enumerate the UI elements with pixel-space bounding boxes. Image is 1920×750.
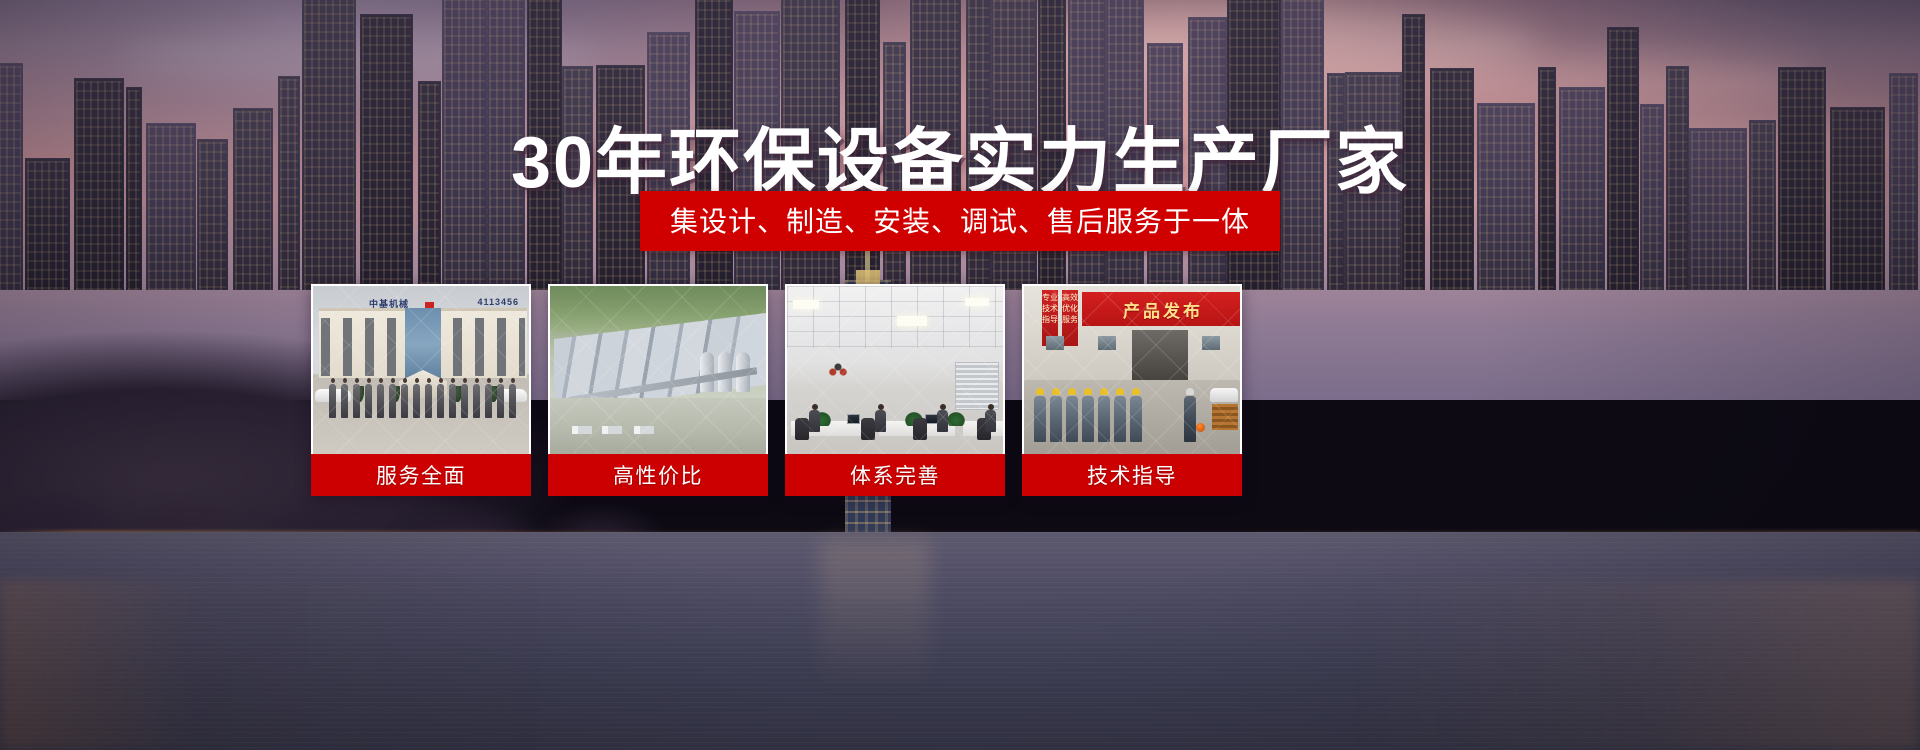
staff-member — [437, 384, 444, 418]
truck — [634, 426, 654, 434]
card-label: 服务全面 — [311, 454, 531, 496]
office-ceiling — [787, 286, 1003, 348]
staff-member — [485, 384, 492, 418]
staff-member — [365, 384, 372, 418]
staff-member — [473, 384, 480, 418]
wall-logo — [825, 358, 851, 378]
red-wall-banner: 产品发布 — [1082, 292, 1240, 326]
staff-lineup — [329, 378, 519, 418]
staff-member — [497, 384, 504, 418]
ceiling-light — [965, 298, 989, 306]
vertical-banner-right: 高效 优化服务 — [1062, 290, 1078, 346]
staff-member — [425, 384, 432, 418]
staff-member — [389, 384, 396, 418]
held-helmet — [1196, 423, 1205, 432]
flag-icon — [425, 302, 434, 308]
banner-subtitle-bar: 集设计、制造、安装、调试、售后服务于一体 — [640, 191, 1280, 251]
truck — [1210, 388, 1238, 402]
feature-card[interactable]: 专业 技术指导 高效 优化服务 产品发布 — [1022, 284, 1242, 496]
ceiling-light — [793, 300, 819, 309]
staff-member — [413, 384, 420, 418]
worker — [1034, 396, 1046, 442]
window-blinds — [955, 362, 999, 410]
truck — [572, 426, 592, 434]
worker — [1130, 396, 1142, 442]
storage-silo — [700, 352, 714, 392]
worker — [1050, 396, 1062, 442]
workshop-door — [1132, 330, 1188, 382]
office-chair — [861, 418, 875, 440]
workshop-window — [1046, 336, 1064, 350]
ceiling-light — [897, 316, 927, 326]
card-label: 高性价比 — [548, 454, 768, 496]
worker — [1066, 396, 1078, 442]
worker — [1098, 396, 1110, 442]
staff-member — [461, 384, 468, 418]
banner-content: 30年环保设备实力生产厂家 集设计、制造、安装、调试、售后服务于一体 中基机械 … — [0, 0, 1920, 750]
card-photo-factory-workers: 专业 技术指导 高效 优化服务 产品发布 — [1024, 286, 1240, 454]
feature-card[interactable]: 高性价比 — [548, 284, 768, 496]
card-photo-office-interior — [787, 286, 1003, 454]
staff-member — [341, 384, 348, 418]
red-wall-banner-text: 产品发布 — [1082, 292, 1240, 326]
office-worker — [875, 410, 886, 432]
hero-banner: 30年环保设备实力生产厂家 集设计、制造、安装、调试、售后服务于一体 中基机械 … — [0, 0, 1920, 750]
company-sign-text: 中基机械 — [369, 297, 409, 310]
office-worker — [809, 410, 820, 432]
staff-member — [329, 384, 336, 418]
feature-card[interactable]: 中基机械 4113456 服务全面 — [311, 284, 531, 496]
truck — [602, 426, 622, 434]
staff-member — [509, 384, 516, 418]
workshop-window — [1202, 336, 1220, 350]
worker-supervisor — [1184, 396, 1196, 442]
card-label: 技术指导 — [1022, 454, 1242, 496]
desk-plant — [947, 412, 965, 426]
staff-member — [353, 384, 360, 418]
card-photo-headquarters: 中基机械 4113456 — [313, 286, 529, 454]
office-chair — [913, 418, 927, 440]
staff-member — [449, 384, 456, 418]
card-label: 体系完善 — [785, 454, 1005, 496]
office-chair — [795, 418, 809, 440]
staff-member — [377, 384, 384, 418]
staff-member — [401, 384, 408, 418]
feature-card-row: 中基机械 4113456 服务全面 — [311, 284, 1558, 496]
stacked-material — [1212, 404, 1238, 430]
workshop-window — [1098, 336, 1116, 350]
card-photo-industrial-plant — [550, 286, 766, 454]
office-worker — [937, 410, 948, 432]
company-phone-text: 4113456 — [477, 297, 519, 307]
worker — [1114, 396, 1126, 442]
worker — [1082, 396, 1094, 442]
office-worker — [985, 410, 996, 432]
feature-card[interactable]: 体系完善 — [785, 284, 1005, 496]
monitor — [847, 414, 860, 424]
building-atrium-glass — [405, 308, 441, 380]
